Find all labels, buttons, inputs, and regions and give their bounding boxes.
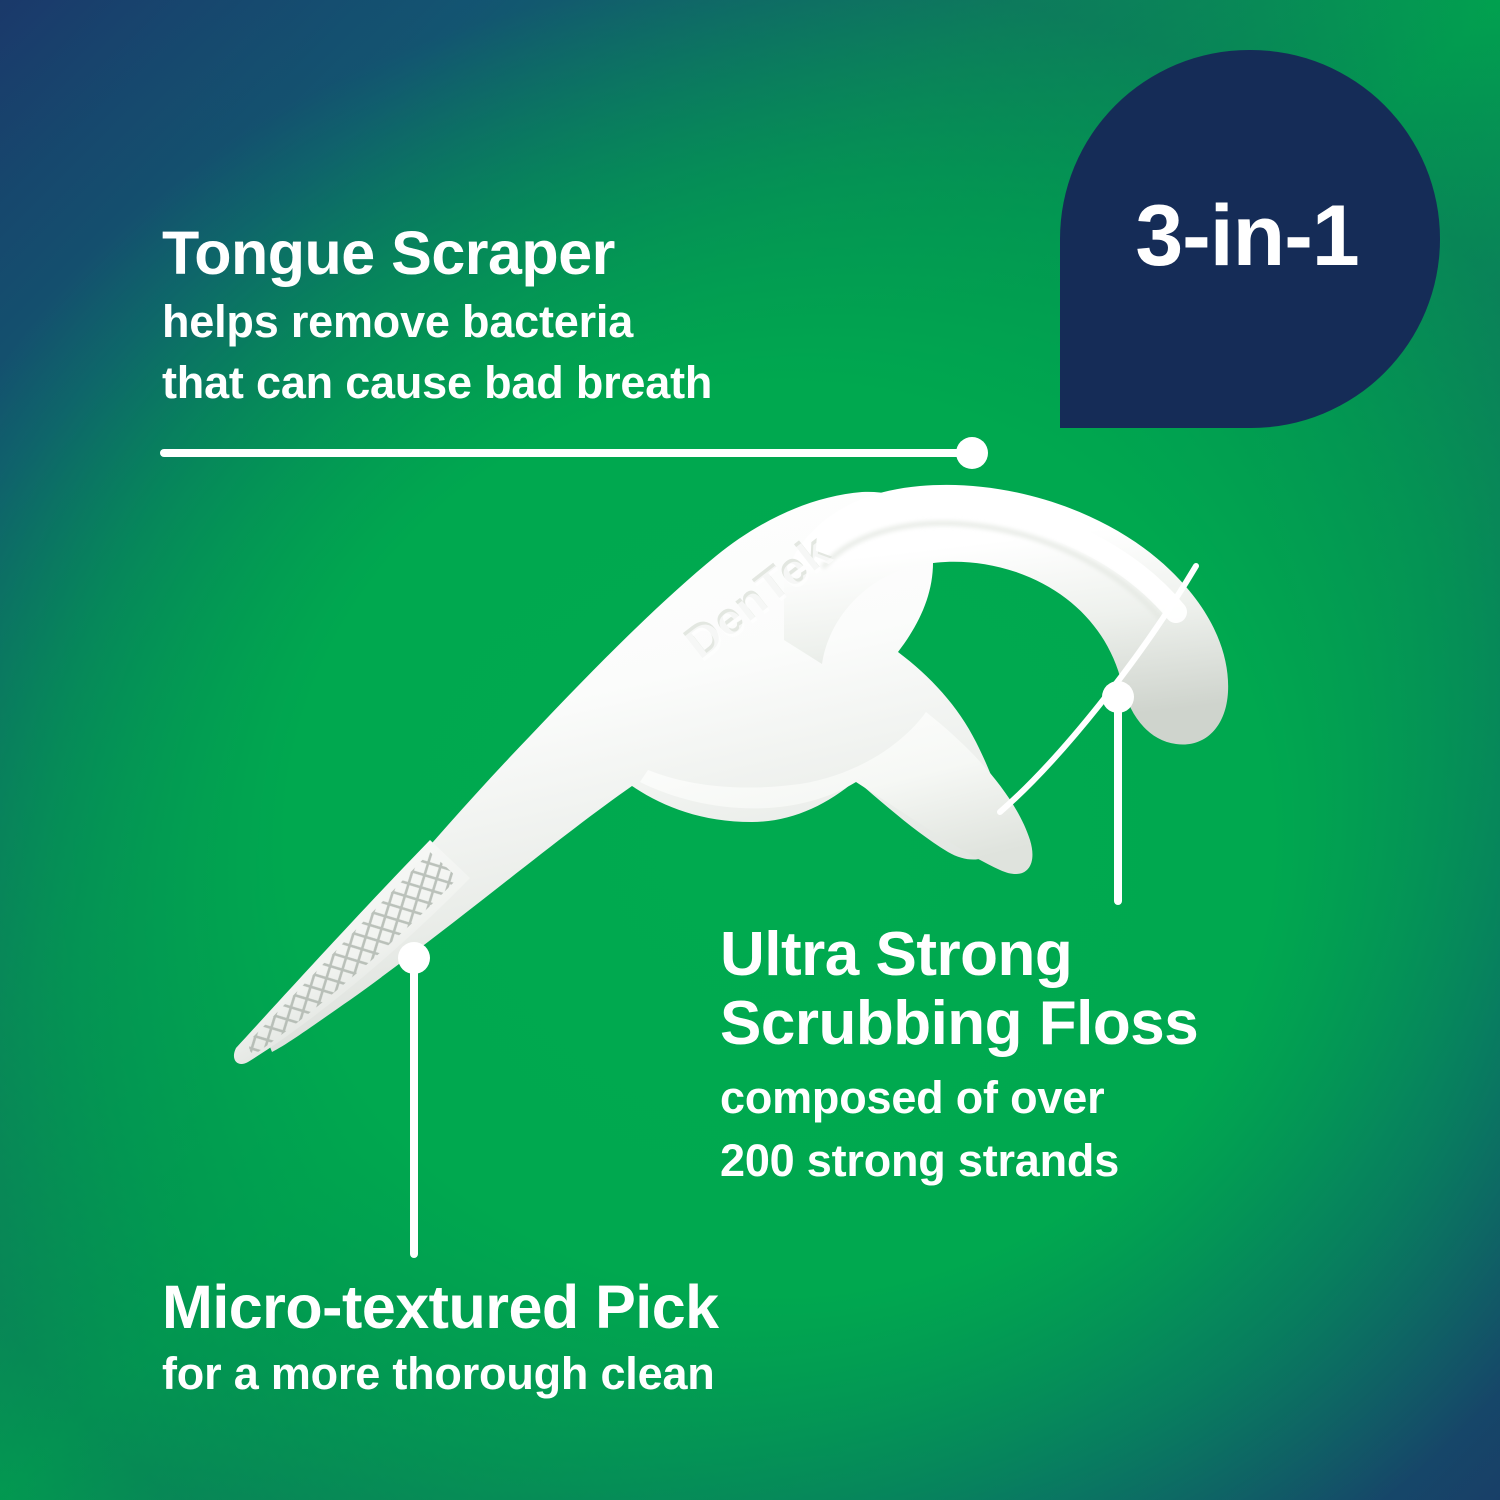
scraper-ridge-shadow <box>824 523 1162 620</box>
leader-line-scrubbing-floss <box>1114 700 1122 905</box>
micro-textured-pick-tip <box>234 840 470 1064</box>
three-in-one-badge: 3-in-1 <box>1060 50 1440 428</box>
callout-tongue-scraper-headline: Tongue Scraper <box>162 222 712 285</box>
infographic-canvas: DenTek DenTek 3-in-1 Tongue Scraper help… <box>0 0 1500 1500</box>
callout-tongue-scraper-sub-line-2: that can cause bad breath <box>162 358 712 408</box>
callout-scrubbing-floss-sub-line-2: 200 strong strands <box>720 1136 1198 1186</box>
loop-void <box>837 574 1113 761</box>
leader-dot-tongue-scraper <box>956 437 988 469</box>
callout-micro-textured-pick-headline: Micro-textured Pick <box>162 1276 719 1339</box>
callout-tongue-scraper-sub-line-1: helps remove bacteria <box>162 297 712 347</box>
three-in-one-badge-label: 3-in-1 <box>1135 193 1358 279</box>
callout-micro-textured-pick: Micro-textured Pick for a more thorough … <box>162 1276 719 1398</box>
floss-strand <box>1000 566 1196 812</box>
callout-scrubbing-floss-headline-line-2: Scrubbing Floss <box>720 989 1198 1058</box>
brand-emboss: DenTek <box>674 523 839 668</box>
callout-scrubbing-floss-headline-line-1: Ultra Strong <box>720 920 1198 989</box>
fork-wing <box>640 712 1032 874</box>
leader-dot-scrubbing-floss <box>1102 681 1134 713</box>
leader-dot-micro-textured-pick <box>398 942 430 974</box>
leader-line-micro-textured-pick <box>410 962 418 1258</box>
brand-emboss-highlight: DenTek <box>676 526 841 671</box>
callout-tongue-scraper: Tongue Scraper helps remove bacteria tha… <box>162 222 712 408</box>
tongue-scraper-arm <box>784 485 1228 745</box>
callout-micro-textured-pick-sub-line-1: for a more thorough clean <box>162 1349 719 1399</box>
callout-scrubbing-floss-sub-line-1: composed of over <box>720 1073 1198 1123</box>
scraper-ridge <box>812 507 1176 612</box>
callout-scrubbing-floss: Ultra Strong Scrubbing Floss composed of… <box>720 920 1198 1186</box>
leader-line-tongue-scraper <box>160 449 972 457</box>
